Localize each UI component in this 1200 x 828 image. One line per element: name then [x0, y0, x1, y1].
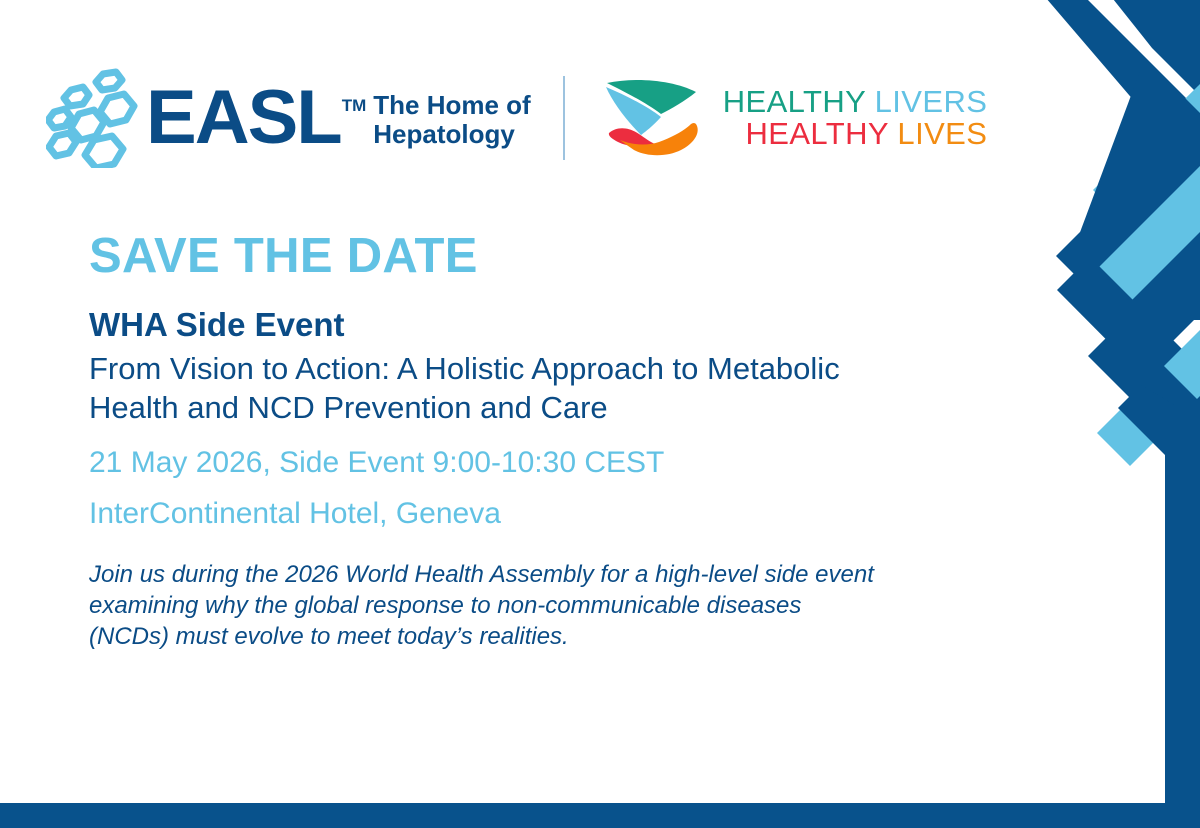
hll-word-healthy-1: HEALTHY	[723, 84, 866, 119]
easl-tagline: The Home of Hepatology	[373, 91, 530, 149]
hll-word-healthy-2: HEALTHY	[745, 116, 888, 151]
easl-tagline-line1: The Home of	[373, 91, 530, 120]
event-venue: InterContinental Hotel, Geneva	[89, 496, 919, 533]
logo-lockup: EASL TM The Home of Hepatology HEAL	[46, 58, 987, 178]
event-title: From Vision to Action: A Holistic Approa…	[89, 349, 919, 427]
hexagon-cells-icon	[46, 68, 142, 168]
healthy-livers-healthy-lives-logo: HEALTHY LIVERS HEALTHY LIVES	[601, 76, 988, 160]
save-the-date-kicker: SAVE THE DATE	[89, 232, 919, 281]
hll-word-livers: LIVERS	[875, 84, 988, 119]
easl-trademark: TM	[342, 96, 367, 116]
healthy-livers-wordmark: HEALTHY LIVERS HEALTHY LIVES	[723, 86, 988, 149]
event-description: Join us during the 2026 World Health Ass…	[89, 559, 879, 653]
logo-divider	[563, 76, 565, 160]
easl-logo: EASL TM The Home of Hepatology	[46, 68, 531, 168]
hll-line-1: HEALTHY LIVERS	[723, 86, 988, 118]
chevron-decoration	[1000, 0, 1200, 828]
footer-bar	[0, 803, 1200, 828]
funnel-liver-mark-icon	[601, 76, 709, 160]
save-the-date-card: EASL TM The Home of Hepatology HEAL	[0, 0, 1200, 828]
easl-tagline-line2: Hepatology	[373, 120, 530, 149]
event-type-heading: WHA Side Event	[89, 307, 919, 343]
hll-word-lives: LIVES	[897, 116, 987, 151]
chevron-pattern-icon	[1000, 0, 1200, 828]
easl-wordmark: EASL	[146, 80, 341, 156]
hll-line-2: HEALTHY LIVES	[723, 118, 988, 150]
event-content: SAVE THE DATE WHA Side Event From Vision…	[89, 232, 919, 652]
event-datetime: 21 May 2026, Side Event 9:00-10:30 CEST	[89, 445, 919, 482]
